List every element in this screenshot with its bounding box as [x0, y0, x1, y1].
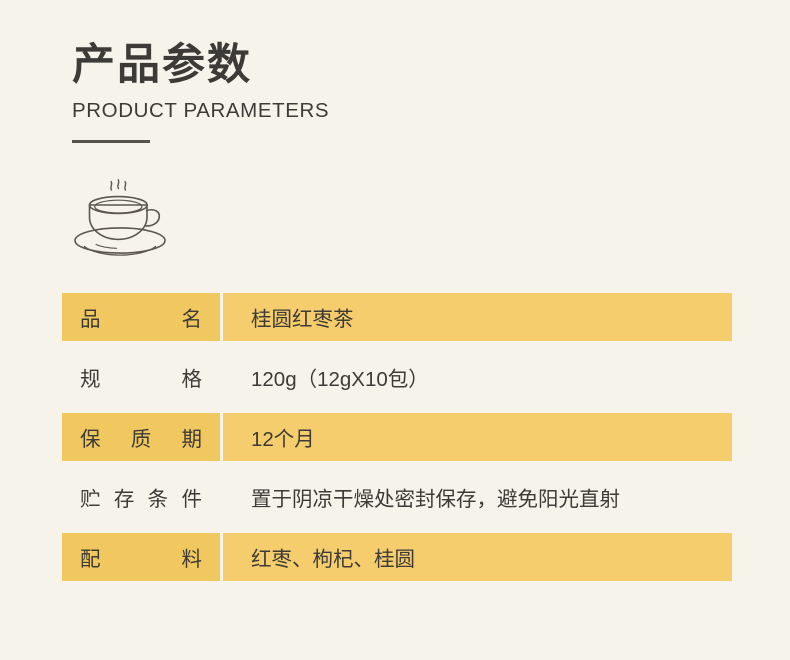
spec-value-cell: 红枣、枸杞、桂圆: [223, 533, 732, 581]
spec-label-cell: 贮存条件: [62, 473, 220, 521]
spec-label-cell: 规格: [62, 353, 220, 401]
product-parameters-page: 产品参数 PRODUCT PARAMETERS 品名: [0, 0, 790, 660]
spec-value: 12个月: [251, 422, 315, 452]
spec-label: 配料: [80, 542, 202, 572]
spec-label: 品名: [80, 302, 202, 332]
spec-value-cell: 120g（12gX10包）: [223, 353, 732, 401]
teacup-icon: [66, 168, 178, 264]
spec-label-cell: 配料: [62, 533, 220, 581]
page-subtitle: PRODUCT PARAMETERS: [72, 99, 329, 123]
table-row: 品名 桂圆红枣茶: [62, 293, 732, 341]
page-title: 产品参数: [72, 42, 329, 89]
spec-label: 保质期: [80, 422, 202, 452]
spec-value-cell: 置于阴凉干燥处密封保存，避免阳光直射: [223, 473, 732, 521]
spec-value: 红枣、枸杞、桂圆: [251, 542, 415, 572]
spec-value: 置于阴凉干燥处密封保存，避免阳光直射: [251, 482, 620, 512]
spec-value: 120g（12gX10包）: [251, 362, 429, 392]
table-row: 贮存条件 置于阴凉干燥处密封保存，避免阳光直射: [62, 473, 732, 521]
spec-value: 桂圆红枣茶: [251, 302, 354, 332]
spec-label: 贮存条件: [80, 482, 202, 512]
spec-value-cell: 12个月: [223, 413, 732, 461]
spec-table: 品名 桂圆红枣茶 规格 120g（12gX10包） 保质期 12个月: [62, 293, 732, 581]
title-underline-rule: [72, 140, 150, 143]
spec-label-cell: 品名: [62, 293, 220, 341]
table-row: 规格 120g（12gX10包）: [62, 353, 732, 401]
table-row: 保质期 12个月: [62, 413, 732, 461]
spec-label: 规格: [80, 362, 202, 392]
page-header: 产品参数 PRODUCT PARAMETERS: [72, 42, 329, 143]
spec-label-cell: 保质期: [62, 413, 220, 461]
spec-value-cell: 桂圆红枣茶: [223, 293, 732, 341]
table-row: 配料 红枣、枸杞、桂圆: [62, 533, 732, 581]
